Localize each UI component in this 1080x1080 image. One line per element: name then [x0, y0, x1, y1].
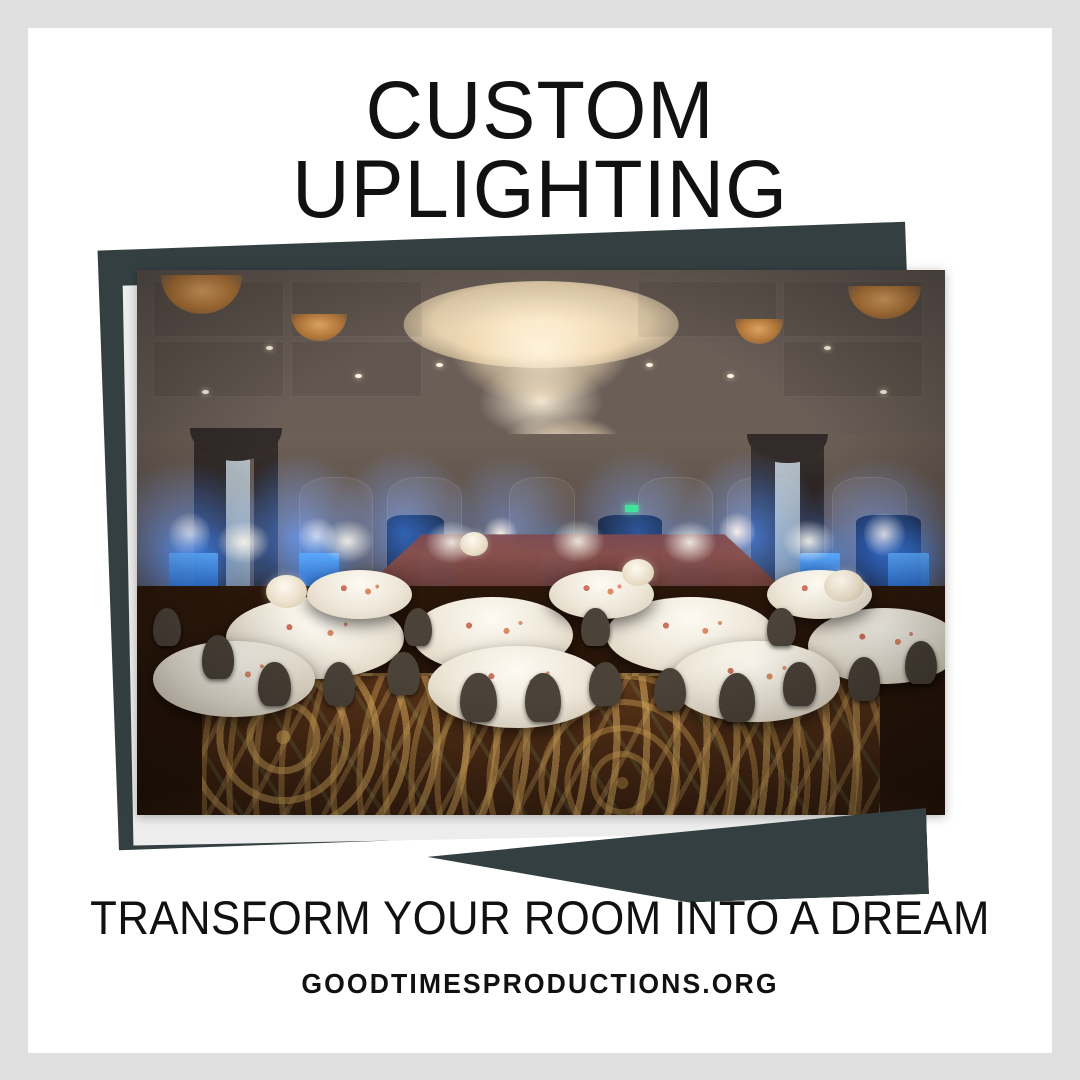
exit-sign [625, 505, 638, 512]
banquet-chair [323, 662, 355, 706]
ballroom-doorway [387, 515, 444, 586]
wall-panel [832, 477, 907, 588]
banquet-table [428, 646, 606, 728]
crystal-chandelier-secondary [513, 412, 642, 543]
wall-panel [727, 477, 802, 588]
uplight-fixture [420, 553, 456, 591]
downlight [646, 363, 653, 367]
photo-vignette [137, 270, 945, 815]
wall-panel [509, 477, 576, 583]
ballroom-doorway [856, 515, 921, 586]
banquet-chair [258, 662, 290, 706]
window-curtain [194, 434, 226, 587]
floral-centerpiece [266, 575, 306, 608]
floral-centerpiece [460, 532, 488, 557]
floral-centerpiece [622, 559, 654, 586]
banquet-chair [654, 668, 686, 712]
downlight [436, 363, 443, 367]
ballroom-carpet [137, 586, 945, 815]
wall-sconce [169, 510, 209, 559]
banquet-table [412, 597, 574, 673]
ceiling-coffer [783, 281, 922, 338]
banquet-table [606, 597, 776, 673]
pendant-light [291, 314, 348, 341]
window-curtain [751, 439, 775, 581]
uplight-fixture [888, 553, 928, 597]
downlight [355, 374, 362, 378]
banquet-table [549, 570, 654, 619]
banquet-chair [767, 608, 795, 646]
downlight [824, 346, 831, 350]
banquet-chair [589, 662, 621, 706]
banquet-table [808, 608, 945, 684]
window-curtain [254, 434, 278, 587]
ceiling-coffer [291, 341, 422, 398]
website-url: GOODTIMESPRODUCTIONS.ORG [54, 968, 1027, 1000]
banquet-chair [719, 673, 755, 722]
uplight-fixture [541, 553, 577, 591]
wall-sconce [484, 515, 516, 553]
poster-root: CUSTOM UPLIGHTING [0, 0, 1080, 1080]
uplight-fixture [670, 553, 710, 594]
banquet-table [307, 570, 412, 619]
downlight [202, 390, 209, 394]
banquet-chair [404, 608, 432, 646]
ceiling-coffer [291, 281, 422, 338]
wall-sconce [864, 510, 904, 559]
banquet-table [767, 570, 872, 619]
banquet-chair [202, 635, 234, 679]
downlight [880, 390, 887, 394]
curtain-swag [747, 434, 828, 464]
floral-centerpiece [824, 570, 864, 603]
downlight [266, 346, 273, 350]
ceiling-coffer [638, 281, 777, 338]
banquet-table [670, 641, 840, 723]
coffered-ceiling [137, 270, 945, 499]
window-sheer [226, 455, 250, 586]
banquet-chair [783, 662, 815, 706]
banquet-table [226, 597, 404, 679]
slate-backdrop-shape [98, 222, 927, 851]
background-banquet-tables [169, 510, 912, 565]
ballroom-scene [137, 270, 945, 815]
pendant-light [848, 286, 921, 319]
poster-card: CUSTOM UPLIGHTING [28, 28, 1052, 1053]
curtain-swag [190, 428, 283, 461]
banquet-chair [460, 673, 496, 722]
ceiling-coffer [153, 341, 284, 398]
window-sheer [775, 461, 799, 581]
banquet-table [153, 641, 315, 717]
banquet-chair [848, 657, 880, 701]
pendant-light [735, 319, 783, 344]
banquet-chair [153, 608, 181, 646]
ceiling-coffer [153, 281, 284, 338]
dance-floor [363, 534, 783, 589]
uplight-fixture [299, 553, 339, 594]
downlight [727, 374, 734, 378]
uplight-fixture [169, 553, 217, 597]
crystal-chandelier-main [420, 286, 662, 526]
uplight-fixture [800, 553, 840, 594]
banquet-chair [581, 608, 609, 646]
wall-panel [638, 477, 713, 588]
ballroom-walls [137, 434, 945, 663]
banquet-chair [387, 652, 419, 696]
banquet-chair [525, 673, 561, 722]
ceiling-coffer [783, 341, 922, 398]
blue-uplighting-wash [137, 434, 945, 641]
wall-sconce [299, 515, 335, 559]
window-curtain [800, 439, 824, 581]
ceiling-dome [404, 281, 679, 368]
wall-panel [387, 477, 462, 588]
page-title: CUSTOM UPLIGHTING [43, 72, 1036, 229]
ballroom-photo [137, 270, 945, 815]
wall-sconce [719, 510, 755, 554]
pendant-light [161, 275, 242, 313]
ballroom-doorway [598, 515, 663, 586]
wall-panel [299, 477, 374, 588]
tagline: TRANSFORM YOUR ROOM INTO A DREAM [64, 890, 1016, 945]
banquet-chair [905, 641, 937, 685]
paper-backdrop-shape [123, 270, 924, 845]
damask-carpet-border [202, 673, 881, 815]
